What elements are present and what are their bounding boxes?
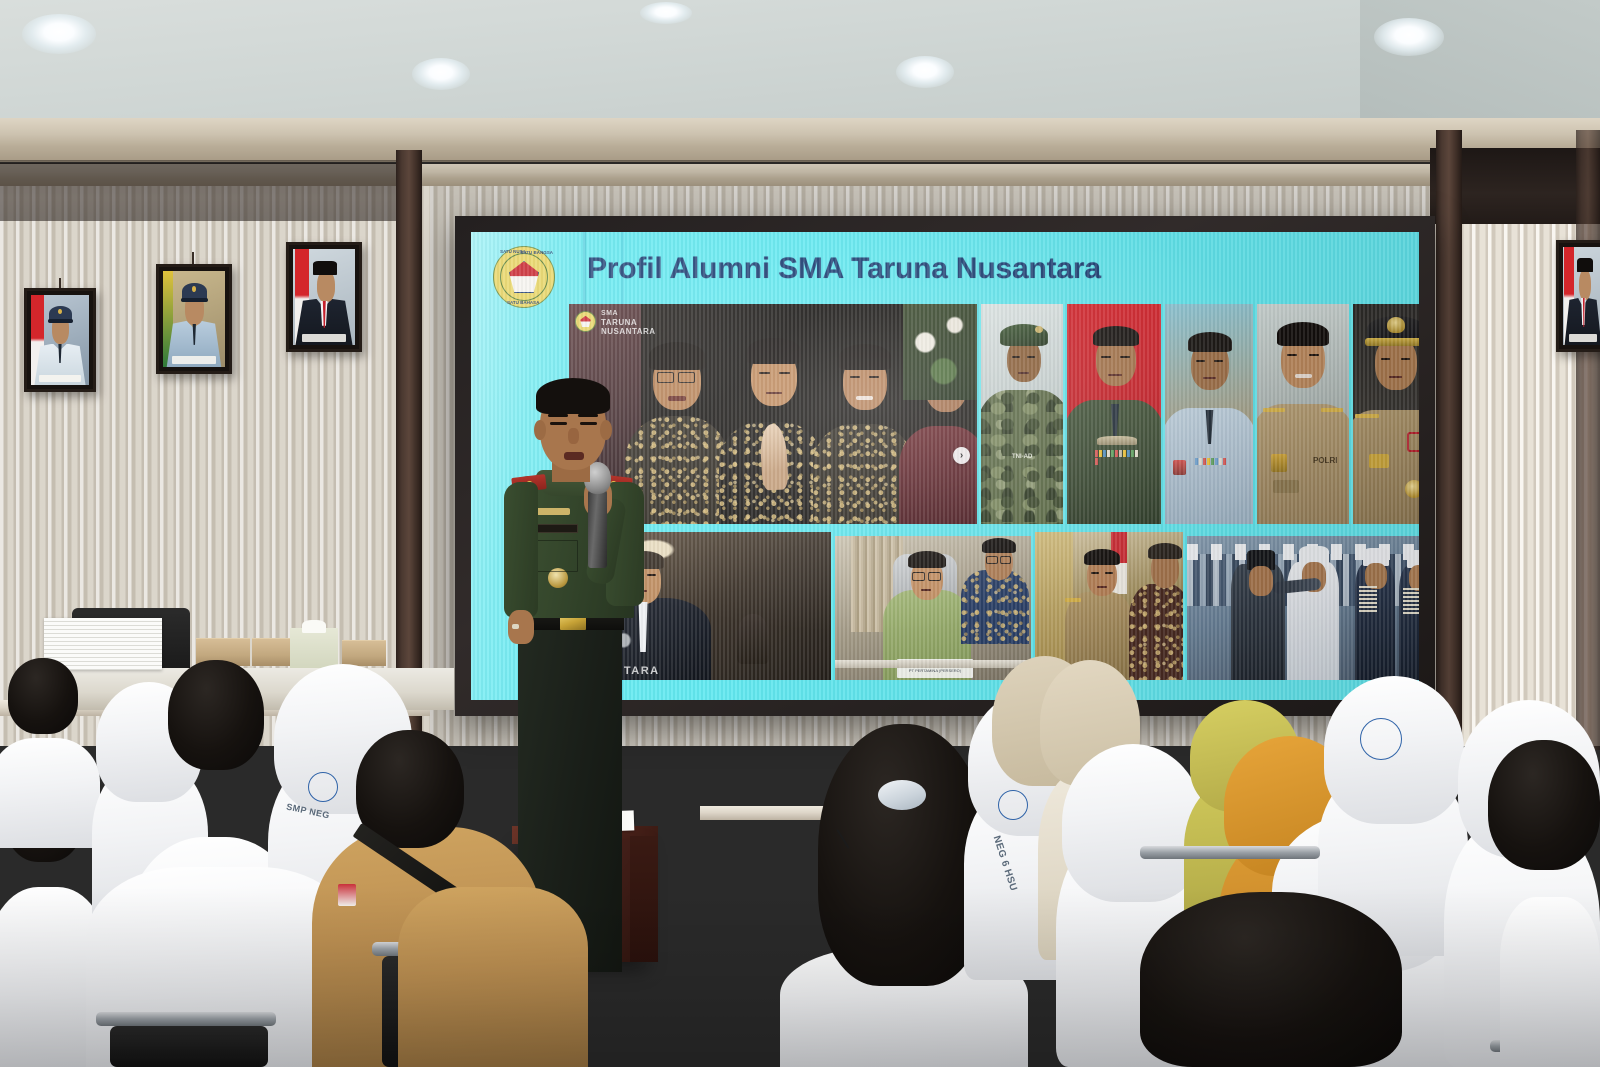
audience-member-white-1 [0, 648, 100, 848]
audience-member-khaki-2 [398, 868, 588, 1067]
officer-wing-badge [536, 508, 570, 515]
alumni-photo-air-force[interactable] [1165, 304, 1253, 524]
officer-eye-left [550, 422, 567, 425]
school-logo-patch-3 [1360, 718, 1402, 760]
tissue-box [290, 628, 338, 668]
chair-frame-1 [96, 1012, 276, 1026]
sma-taruna-nusantara-emblem: SATU NUSA SATU BANGSA SATU BAHASA [493, 246, 555, 308]
head [8, 658, 78, 734]
portrait-president-right-wall [1556, 240, 1600, 352]
screenshot-root: SATU NUSA SATU BANGSA SATU BAHASA Profil… [0, 0, 1600, 1067]
officer-brow-right [578, 414, 598, 417]
hijab [1062, 744, 1204, 902]
officer-ring [512, 624, 519, 629]
alumni-photo-police-2[interactable] [1353, 304, 1419, 524]
audience-member-dark-hair-far-right [1488, 740, 1600, 920]
tissue-sheet [302, 620, 326, 633]
portrait-regional-official-1 [24, 288, 96, 392]
officer-ear-left [534, 420, 546, 440]
photo-caption-police: POLRI [1313, 456, 1337, 465]
audience-member-dark-hair-front [1140, 892, 1410, 1067]
downlight-1 [22, 14, 96, 54]
downlight-3 [896, 56, 954, 88]
medal-ribbon-bar-af [1195, 458, 1229, 465]
downlight-4 [1374, 18, 1444, 56]
officer-mouth [564, 452, 584, 460]
shoulders [1500, 897, 1600, 1067]
chair-frame-3 [1140, 846, 1320, 859]
chair-back-1 [110, 1026, 268, 1067]
officer-nose [568, 428, 579, 444]
slide-title: Profil Alumni SMA Taruna Nusantara [587, 252, 1101, 286]
portrait-regional-official-2 [156, 264, 232, 374]
watermark-line2: TARUNA [601, 318, 637, 327]
head [168, 660, 264, 770]
officer-eye-right [580, 422, 597, 425]
alumni-photo-tni-camouflage[interactable]: TNI-AD [981, 304, 1063, 524]
wall-dark-band [0, 163, 420, 221]
emblem-motto-bottom: SATU BAHASA [507, 300, 539, 305]
officer-brow-left [548, 414, 568, 417]
officer-name-tag [536, 524, 578, 533]
alumni-photo-military-ceremony[interactable] [1187, 536, 1419, 680]
portrait-president [286, 242, 362, 352]
photo-caption-tni: TNI-AD [1012, 454, 1032, 460]
downlight-5 [640, 2, 692, 24]
officer-ear-right [600, 420, 612, 440]
medal-ribbon-bar [1095, 450, 1141, 465]
flag-patch [338, 884, 356, 906]
shoulders [398, 887, 588, 1067]
watermark-emblem [575, 311, 596, 332]
emblem-motto-mid: SATU BANGSA [520, 250, 553, 255]
microphone-body [588, 490, 607, 568]
downlight-2 [412, 58, 470, 90]
hair-scrunchie [878, 780, 926, 810]
officer-hair [536, 378, 610, 414]
alumni-photo-army-dress[interactable] [1067, 304, 1161, 524]
pilaster-right [1436, 130, 1462, 750]
officer-arm-left [504, 482, 538, 618]
pilaster-far-right [1576, 130, 1600, 750]
head [1488, 740, 1600, 870]
watermark-line1: SMA [601, 310, 618, 317]
nameplate-line-2: PT PERTAMINA (PERSERO) [897, 668, 973, 673]
head [1140, 892, 1402, 1067]
cardboard-box-3 [342, 640, 386, 666]
watermark-line3: NUSANTARA [601, 327, 656, 336]
pilaster-left [396, 150, 422, 750]
alumni-photo-police-1[interactable]: POLRI [1257, 304, 1349, 524]
shoulders [0, 738, 100, 848]
cornice-band [0, 118, 1600, 162]
carousel-next-arrow[interactable]: › [953, 447, 970, 464]
